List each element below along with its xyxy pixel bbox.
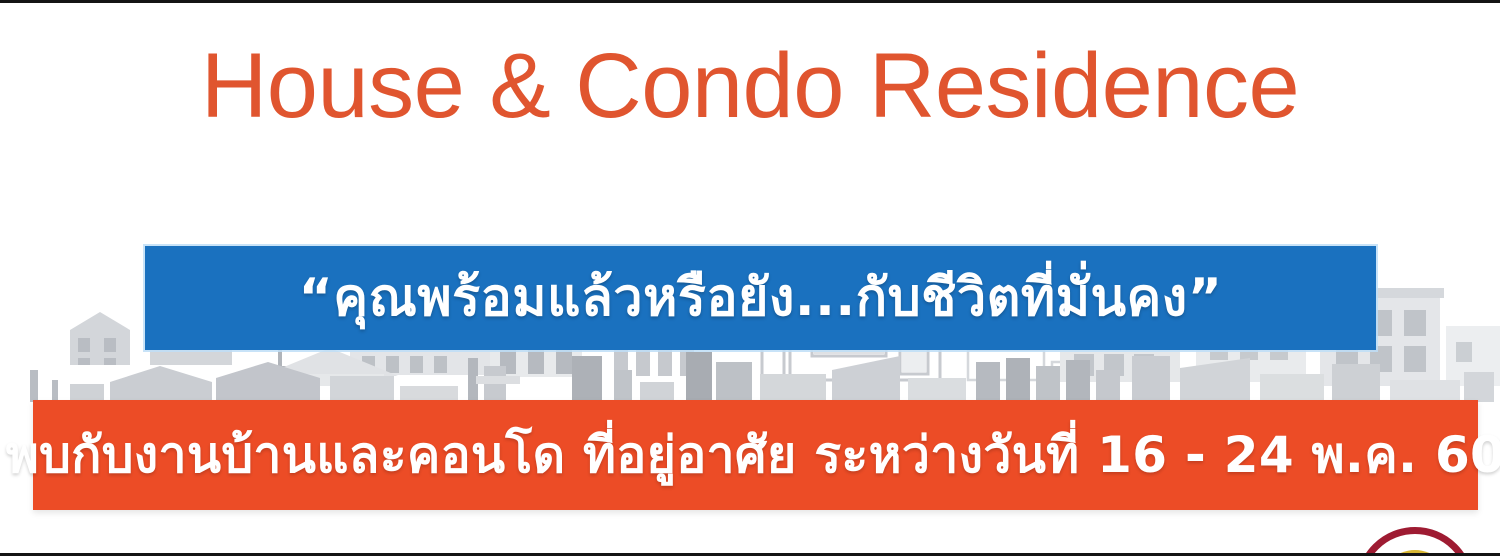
quote-banner: “คุณพร้อมแล้วหรือยัง...กับชีวิตที่มั่นคง… <box>145 246 1376 350</box>
top-divider <box>0 0 1500 3</box>
event-date-banner: พบกับงานบ้านและคอนโด ที่อยู่อาศัย ระหว่า… <box>33 400 1478 510</box>
corner-seal-logo-icon <box>1356 527 1474 556</box>
promo-banner: House & Condo Residence “คุณพร้อมแล้วหรื… <box>0 0 1500 556</box>
event-date-text: พบกับงานบ้านและคอนโด ที่อยู่อาศัย ระหว่า… <box>6 430 1500 480</box>
quote-text: “คุณพร้อมแล้วหรือยัง...กับชีวิตที่มั่นคง… <box>299 272 1223 324</box>
page-title: House & Condo Residence <box>0 38 1500 135</box>
